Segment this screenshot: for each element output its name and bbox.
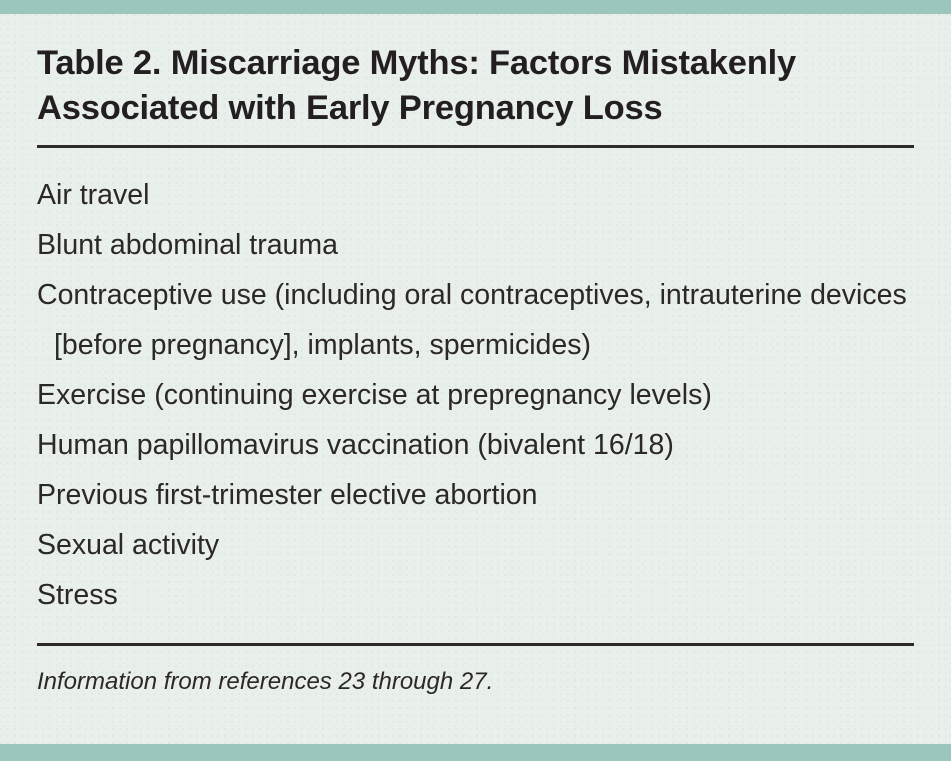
list-item: Contraceptive use (including oral contra… bbox=[37, 270, 914, 370]
list-item: Air travel bbox=[37, 170, 914, 220]
list-item: Stress bbox=[37, 570, 914, 620]
myth-list: Air travel Blunt abdominal trauma Contra… bbox=[37, 148, 914, 620]
list-item: Human papillomavirus vaccination (bivale… bbox=[37, 420, 914, 470]
table-container: Table 2. Miscarriage Myths: Factors Mist… bbox=[0, 14, 951, 744]
list-item: Blunt abdominal trauma bbox=[37, 220, 914, 270]
list-item: Sexual activity bbox=[37, 520, 914, 570]
top-accent-band bbox=[0, 0, 951, 14]
list-item: Previous first-trimester elective aborti… bbox=[37, 470, 914, 520]
bottom-accent-band bbox=[0, 744, 951, 761]
table-title: Table 2. Miscarriage Myths: Factors Mist… bbox=[37, 14, 914, 131]
list-item: Exercise (continuing exercise at prepreg… bbox=[37, 370, 914, 420]
source-note: Information from references 23 through 2… bbox=[37, 646, 914, 697]
